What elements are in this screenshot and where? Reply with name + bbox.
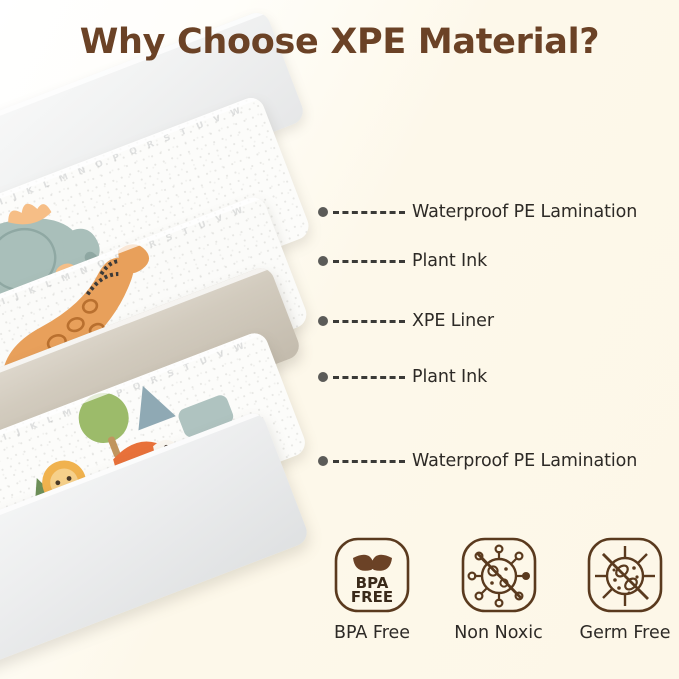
callout-dot-icon <box>318 372 328 382</box>
non-toxic-virus-icon <box>460 536 538 614</box>
callout-row-plant-ink-top[interactable]: Plant Ink <box>318 248 487 274</box>
callout-row-plant-ink-bottom[interactable]: Plant Ink <box>318 364 487 390</box>
callout-dash-line <box>333 320 405 323</box>
callout-dash-line <box>333 460 405 463</box>
badge-non-noxic[interactable]: Non Noxic <box>445 536 553 643</box>
certification-badge-row: BPA FREE BPA Free <box>318 536 679 643</box>
callout-dot-icon <box>318 316 328 326</box>
page-title: Why Choose XPE Material? <box>0 22 679 62</box>
callout-label: Waterproof PE Lamination <box>412 202 637 222</box>
bpa-free-icon: BPA FREE <box>333 536 411 614</box>
badge-caption: Non Noxic <box>454 623 543 643</box>
mat-layers-illustration: A B C D E F G H I J K L M N O P Q R S T … <box>0 70 340 590</box>
callout-dash-line <box>333 211 405 214</box>
callout-dot-icon <box>318 207 328 217</box>
callout-row-waterproof-pe-lamination-top[interactable]: Waterproof PE Lamination <box>318 199 637 225</box>
badge-caption: Germ Free <box>580 623 671 643</box>
badge-germ-free[interactable]: Germ Free <box>571 536 679 643</box>
callout-label: Waterproof PE Lamination <box>412 451 637 471</box>
callout-label: Plant Ink <box>412 251 487 271</box>
callout-label: Plant Ink <box>412 367 487 387</box>
callout-row-xpe-liner[interactable]: XPE Liner <box>318 308 494 334</box>
callout-dot-icon <box>318 256 328 266</box>
germ-free-icon <box>586 536 664 614</box>
callout-dot-icon <box>318 456 328 466</box>
infographic-page: Why Choose XPE Material? A B C D E F G H… <box>0 0 679 679</box>
callout-dash-line <box>333 376 405 379</box>
callout-label: XPE Liner <box>412 311 494 331</box>
badge-caption: BPA Free <box>334 623 410 643</box>
bpa-icon-text-line2: FREE <box>351 588 393 606</box>
badge-bpa-free[interactable]: BPA FREE BPA Free <box>318 536 426 643</box>
callout-dash-line <box>333 260 405 263</box>
callout-row-waterproof-pe-lamination-bottom[interactable]: Waterproof PE Lamination <box>318 448 637 474</box>
